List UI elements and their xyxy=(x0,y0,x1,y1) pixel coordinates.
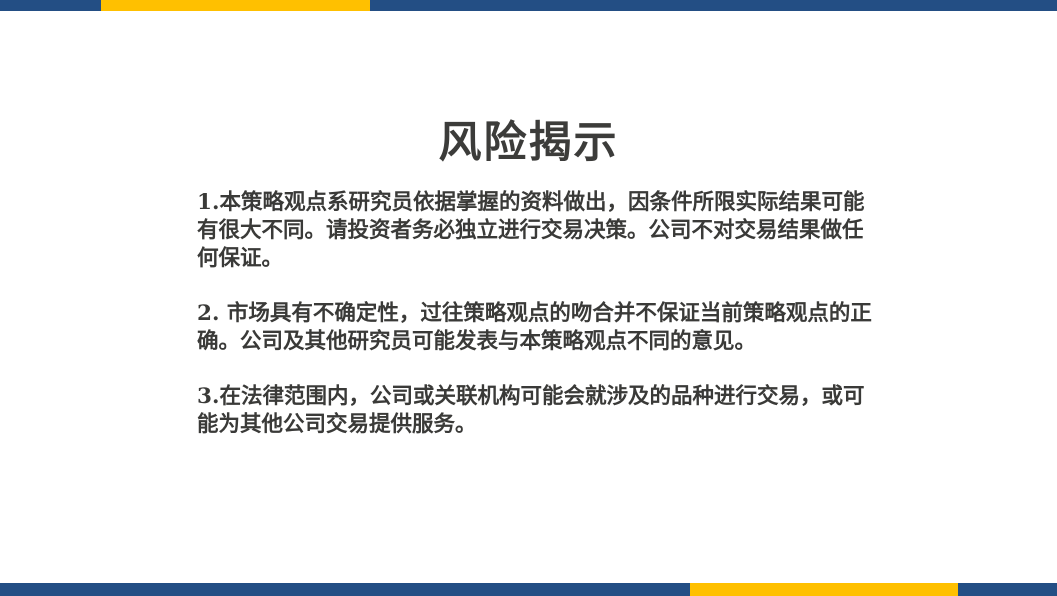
bottom-bar-segment-left-blue xyxy=(0,583,690,596)
slide-content: 风险揭示 1.本策略观点系研究员依据掌握的资料做出，因条件所限实际结果可能有很大… xyxy=(0,11,1057,583)
top-bar-segment-left-blue xyxy=(0,0,101,11)
bottom-decoration-bar xyxy=(0,583,1057,596)
disclaimer-paragraph-3: 3.在法律范围内，公司或关联机构可能会就涉及的品种进行交易，或可能为其他公司交易… xyxy=(197,383,877,439)
top-bar-segment-center-yellow xyxy=(101,0,370,11)
bottom-bar-segment-right-blue xyxy=(958,583,1057,596)
body-text-block: 1.本策略观点系研究员依据掌握的资料做出，因条件所限实际结果可能有很大不同。请投… xyxy=(197,189,877,439)
page-title: 风险揭示 xyxy=(0,122,1057,165)
top-decoration-bar xyxy=(0,0,1057,11)
disclaimer-paragraph-2: 2. 市场具有不确定性，过往策略观点的吻合并不保证当前策略观点的正确。公司及其他… xyxy=(197,300,877,356)
top-bar-segment-right-blue xyxy=(370,0,1057,11)
slide-canvas: 风险揭示 1.本策略观点系研究员依据掌握的资料做出，因条件所限实际结果可能有很大… xyxy=(0,0,1057,596)
disclaimer-paragraph-1: 1.本策略观点系研究员依据掌握的资料做出，因条件所限实际结果可能有很大不同。请投… xyxy=(197,189,877,273)
bottom-bar-segment-center-yellow xyxy=(690,583,958,596)
